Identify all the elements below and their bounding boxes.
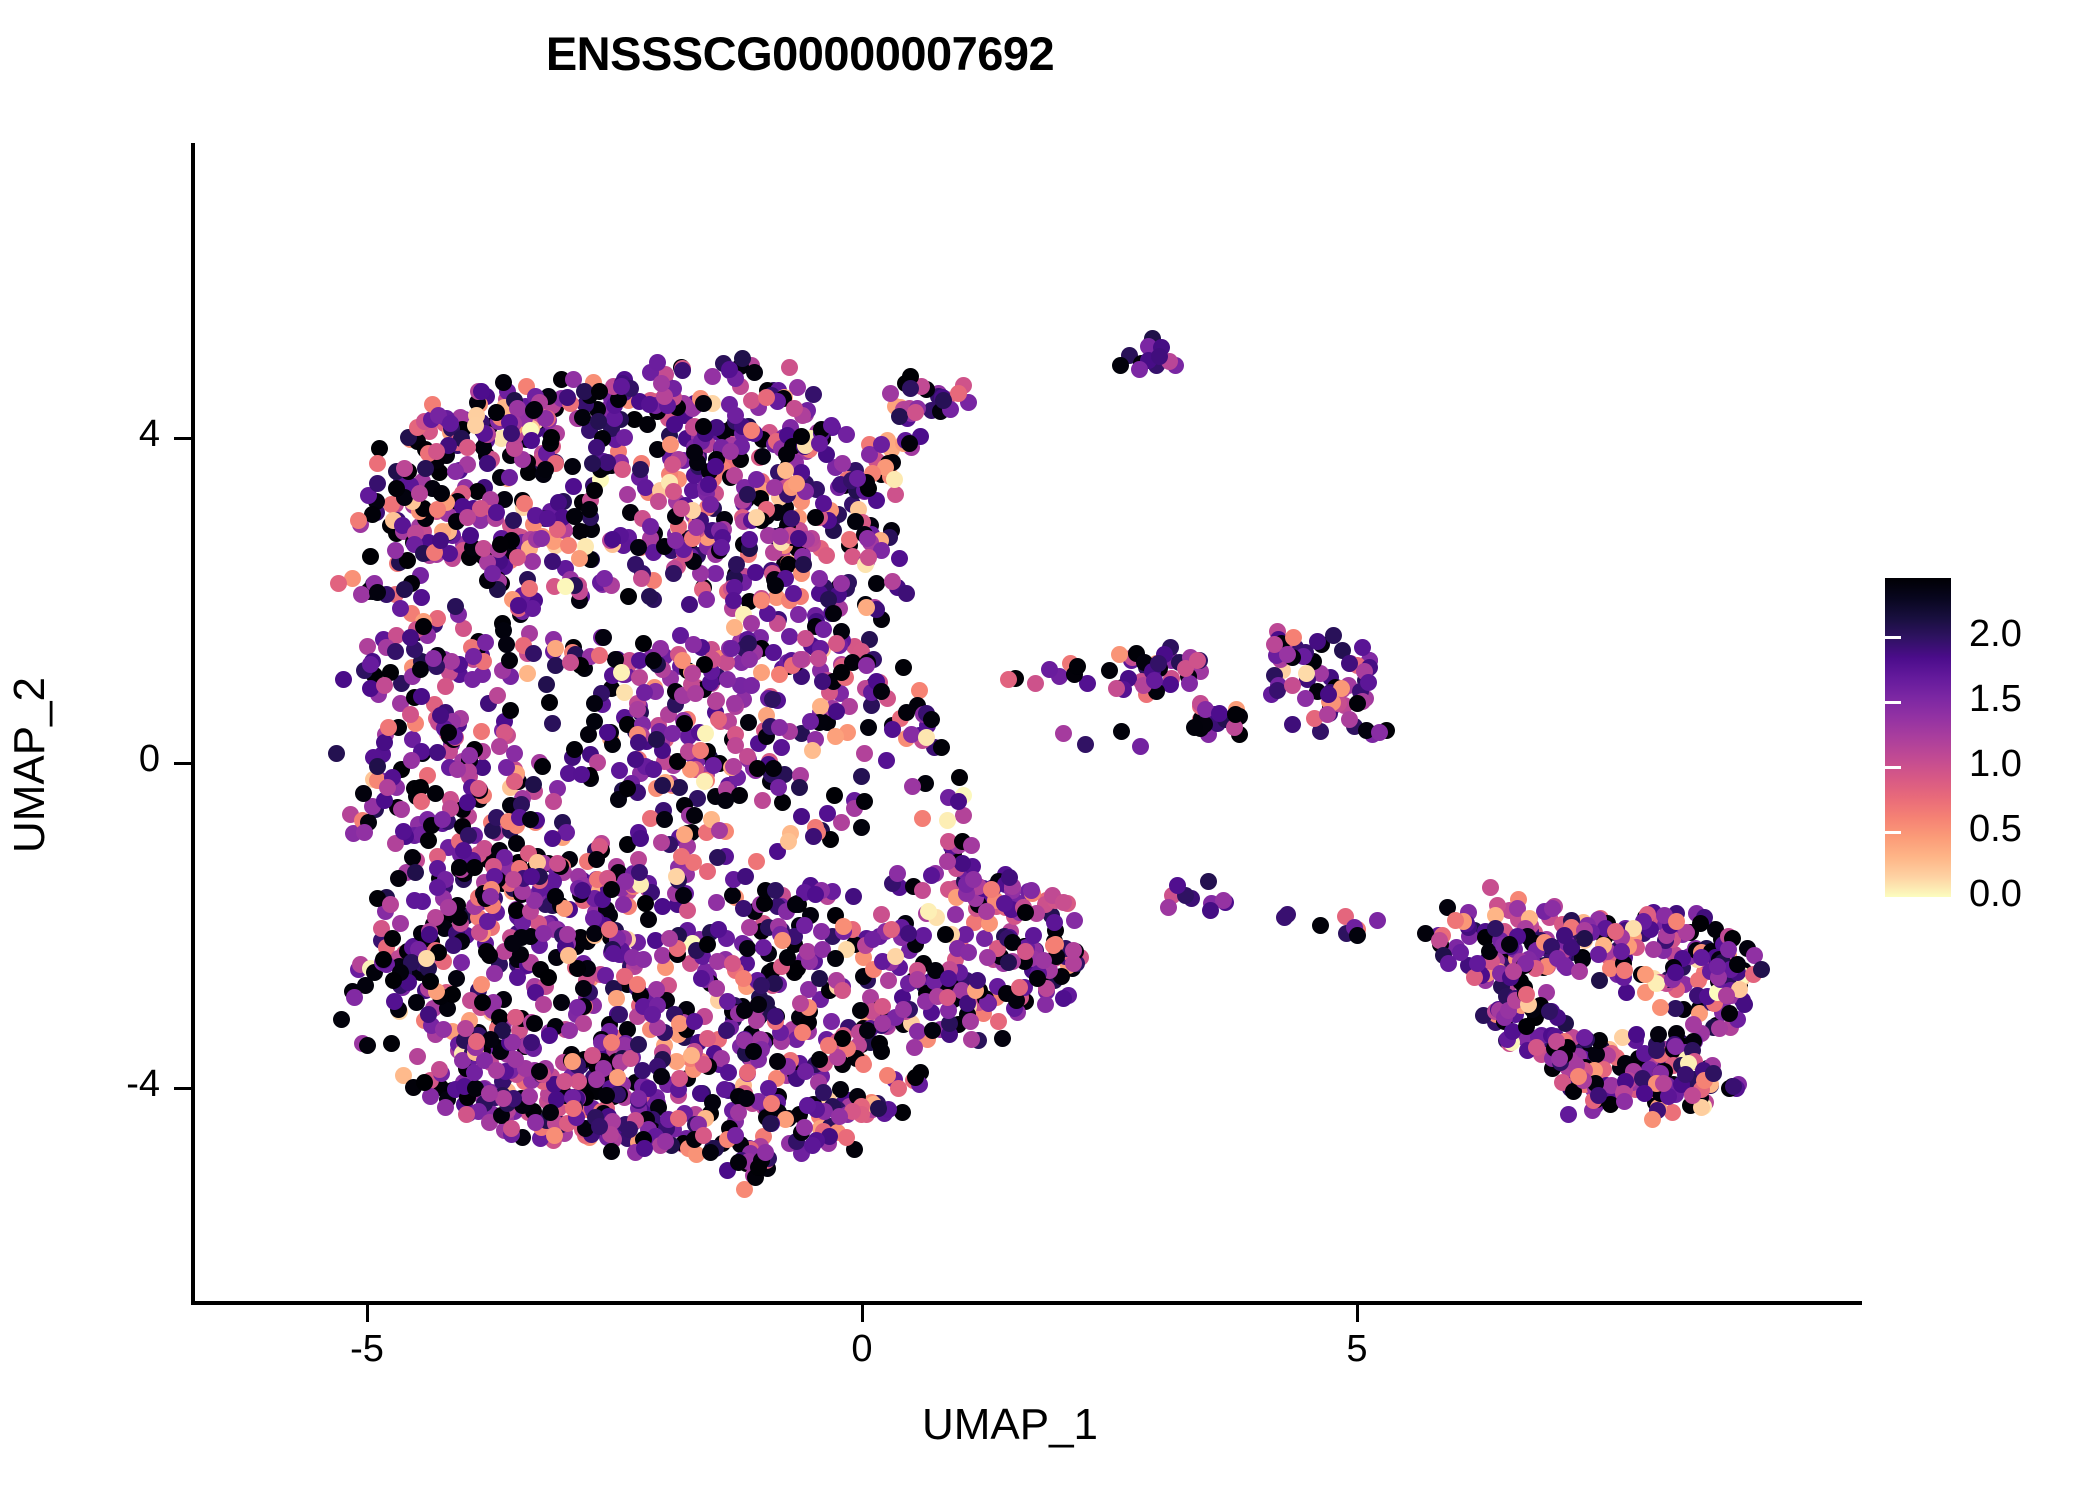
data-point [556,1073,573,1090]
data-point [541,694,558,711]
data-point [737,868,754,885]
data-point [1693,949,1710,966]
data-point [631,864,648,881]
data-point [1590,1087,1607,1104]
data-point [874,1015,891,1032]
data-point [754,448,771,465]
scatter-panel [194,143,1860,1303]
data-point [666,416,683,433]
data-point [683,1047,700,1064]
data-point [954,855,971,872]
data-point [459,794,476,811]
data-point [330,575,347,592]
data-point [585,910,602,927]
data-point [477,634,494,651]
data-point [416,1074,433,1091]
data-point [889,865,906,882]
data-point [1017,943,1034,960]
data-point [780,833,797,850]
data-point [914,882,931,899]
data-point [781,628,798,645]
data-point [914,810,931,827]
data-point [641,588,658,605]
data-point [747,564,764,581]
data-point [670,1110,687,1127]
data-point [1160,899,1177,916]
data-point [1711,1020,1728,1037]
data-point [633,570,650,587]
data-point [796,917,813,934]
data-point [739,940,756,957]
y-tick-mark [174,1087,191,1090]
data-point [700,476,717,493]
data-point [721,361,738,378]
data-point [396,581,413,598]
data-point [895,659,912,676]
data-point [726,619,743,636]
data-point [676,826,693,843]
data-point [461,747,478,764]
data-point [584,455,601,472]
data-point [976,930,993,947]
data-point [1131,361,1148,378]
data-point [1037,996,1054,1013]
data-point [614,461,631,478]
colorbar-tick-label: 1.0 [1969,743,2022,786]
data-point [1077,736,1094,753]
data-point [459,439,476,456]
data-point [540,969,557,986]
data-point [735,970,752,987]
data-point [963,1031,980,1048]
data-point [1284,677,1301,694]
data-point [963,837,980,854]
data-point [662,436,679,453]
data-point [534,758,551,775]
point-layer [194,143,1860,1303]
data-point [328,745,345,762]
data-point [1469,955,1486,972]
data-point [549,855,566,872]
data-point [384,930,401,947]
data-point [687,685,704,702]
data-point [797,630,814,647]
x-tick-label: -5 [277,1328,457,1371]
data-point [664,725,681,742]
data-point [447,598,464,615]
data-point [827,950,844,967]
data-point [856,745,873,762]
data-point [382,896,399,913]
data-point [785,585,802,602]
data-point [891,550,908,567]
data-point [630,539,647,556]
data-point [757,1144,774,1161]
x-tick-mark [1356,1305,1359,1322]
data-point [933,739,950,756]
data-point [962,1013,979,1030]
data-point [1664,1104,1681,1121]
data-point [873,906,890,923]
data-point [369,455,386,472]
data-point [898,704,915,721]
data-point [909,971,926,988]
data-point [459,509,476,526]
data-point [900,925,917,942]
data-point [584,1047,601,1064]
data-point [1487,920,1504,937]
data-point [346,989,363,1006]
data-point [708,980,725,997]
data-point [1636,1085,1653,1102]
data-point [717,792,734,809]
data-point [524,553,541,570]
data-point [1705,1065,1722,1082]
data-point [654,777,671,794]
data-point [1650,1026,1667,1043]
data-point [1055,725,1072,742]
data-point [501,469,518,486]
data-point [1112,357,1129,374]
data-point [588,439,605,456]
data-point [675,887,692,904]
data-point [807,886,824,903]
data-point [562,654,579,671]
data-point [565,478,582,495]
data-point [654,898,671,915]
data-point [668,868,685,885]
data-point [466,859,483,876]
data-point [826,787,843,804]
data-point [1189,652,1206,669]
data-point [753,664,770,681]
data-point [730,1154,747,1171]
data-point [969,972,986,989]
data-point [858,657,875,674]
data-point [566,508,583,525]
data-point [603,1143,620,1160]
data-point [774,932,791,949]
data-point [833,814,850,831]
data-point [503,1120,520,1137]
data-point [791,779,808,796]
data-point [719,671,736,688]
x-axis-title: UMAP_1 [0,1400,2020,1450]
data-point [990,1013,1007,1030]
data-point [856,793,873,810]
data-point [939,812,956,829]
data-point [402,706,419,723]
data-point [1309,633,1326,650]
data-point [420,832,437,849]
data-point [1505,963,1522,980]
data-point [805,386,822,403]
data-point [473,976,490,993]
data-point [369,758,386,775]
data-point [440,724,457,741]
data-point [1570,1068,1587,1085]
data-point [525,645,542,662]
data-point [1668,913,1685,930]
data-point [937,926,954,943]
data-point [915,927,932,944]
data-point [828,703,845,720]
data-point [983,881,1000,898]
data-point [1655,1075,1672,1092]
data-point [771,719,788,736]
data-point [1312,917,1329,934]
data-point [1753,961,1770,978]
data-point [544,830,561,847]
data-point [940,970,957,987]
data-point [1181,675,1198,692]
data-point [739,486,756,503]
data-point [449,761,466,778]
data-point [1591,972,1608,989]
data-point [495,374,512,391]
data-point [1616,1093,1633,1110]
data-point [788,475,805,492]
data-point [443,653,460,670]
data-point [1501,936,1518,953]
data-point [437,678,454,695]
data-point [811,970,828,987]
data-point [586,695,603,712]
data-point [1544,900,1561,917]
data-point [619,780,636,797]
data-point [767,577,784,594]
data-point [923,711,940,728]
data-point [667,532,684,549]
data-point [884,573,901,590]
data-point [458,1106,475,1123]
data-point [533,530,550,547]
data-point [815,621,832,638]
data-point [860,719,877,736]
data-point [1518,1018,1535,1035]
data-point [882,385,899,402]
data-point [657,1133,674,1150]
data-point [673,500,690,517]
data-point [907,404,924,421]
data-point [695,418,712,435]
data-point [407,864,424,881]
data-point [362,656,379,673]
data-point [501,652,518,669]
data-point [1571,963,1588,980]
data-point [492,536,509,553]
data-point [814,673,831,690]
data-point [918,729,935,746]
data-point [679,902,696,919]
data-point [653,834,670,851]
x-axis-line [191,1301,1862,1305]
data-point [621,1121,638,1138]
data-point [544,715,561,732]
data-point [774,794,791,811]
data-point [432,707,449,724]
data-point [835,918,852,935]
data-point [591,1118,608,1135]
data-point [859,1022,876,1039]
data-point [710,711,727,728]
data-point [720,1064,737,1081]
data-point [526,1015,543,1032]
data-point [1518,986,1535,1003]
data-point [792,651,809,668]
data-point [1132,738,1149,755]
data-point [1349,927,1366,944]
data-point [641,396,658,413]
data-point [781,359,798,376]
data-point [1349,695,1366,712]
data-point [386,993,403,1010]
data-point [613,378,630,395]
data-point [738,1090,755,1107]
data-point [523,1034,540,1051]
data-point [1055,990,1072,1007]
data-point [793,808,810,825]
data-point [635,951,652,968]
data-point [484,565,501,582]
data-point [1616,962,1633,979]
data-point [462,527,479,544]
data-point [632,830,649,847]
data-point [748,853,765,870]
data-point [616,684,633,701]
data-point [853,768,870,785]
data-point [559,389,576,406]
data-point [353,586,370,603]
data-point [395,823,412,840]
data-point [489,687,506,704]
data-point [388,480,405,497]
data-point [758,389,775,406]
data-point [356,824,373,841]
data-point [413,688,430,705]
data-point [904,778,921,795]
data-point [731,787,748,804]
data-point [870,1100,887,1117]
data-point [1440,955,1457,972]
data-point [1113,723,1130,740]
data-point [883,921,900,938]
data-point [369,584,386,601]
data-point [542,1104,559,1121]
data-point [455,842,472,859]
data-point [909,1023,926,1040]
data-point [535,996,552,1013]
colorbar-tick [1885,636,1901,639]
data-point [665,565,682,582]
data-point [1341,711,1358,728]
data-point [560,947,577,964]
data-point [650,493,667,510]
data-point [1069,658,1086,675]
data-point [858,599,875,616]
data-point [1000,954,1017,971]
data-point [741,531,758,548]
data-point [906,1039,923,1056]
data-point [645,652,662,669]
x-tick-mark [861,1305,864,1322]
data-point [561,1022,578,1039]
data-point [521,1088,538,1105]
data-point [920,903,937,920]
data-point [1725,1078,1742,1095]
data-point [573,766,590,783]
data-point [559,926,576,943]
y-axis-line [191,143,195,1305]
data-point [545,793,562,810]
data-point [1667,1000,1684,1017]
data-point [601,921,618,938]
data-point [898,585,915,602]
data-point [710,921,727,938]
data-point [804,1137,821,1154]
data-point [1354,639,1371,656]
data-point [1284,716,1301,733]
data-point [1560,1106,1577,1123]
data-point [740,714,757,731]
data-point [890,1080,907,1097]
data-point [767,1008,784,1025]
data-point [749,760,766,777]
colorbar-tick [1885,831,1901,834]
data-point [1482,879,1499,896]
data-point [951,769,968,786]
data-point [1297,690,1314,707]
data-point [745,1043,762,1060]
data-point [525,776,542,793]
data-point [1556,927,1573,944]
data-point [1279,906,1296,923]
data-point [409,1048,426,1065]
data-point [902,380,919,397]
data-point [762,1115,779,1132]
data-point [402,629,419,646]
data-point [413,589,430,606]
data-point [1736,996,1753,1013]
data-point [979,949,996,966]
data-point [1618,984,1635,1001]
data-point [422,973,439,990]
data-point [887,948,904,965]
data-point [403,752,420,769]
data-point [665,483,682,500]
data-point [823,1013,840,1030]
data-point [433,485,450,502]
data-point [838,426,855,443]
data-point [1023,882,1040,899]
colorbar-tick-label: 1.5 [1969,678,2022,721]
data-point [671,1070,688,1087]
data-point [1320,686,1337,703]
data-point [947,906,964,923]
data-point [603,1034,620,1051]
data-point [1029,970,1046,987]
data-point [1285,629,1302,646]
data-point [838,1129,855,1146]
data-point [1202,902,1219,919]
data-point [629,701,646,718]
data-point [417,460,434,477]
data-point [1025,927,1042,944]
data-point [827,728,844,745]
data-point [616,429,633,446]
data-point [566,741,583,758]
data-point [656,811,673,828]
